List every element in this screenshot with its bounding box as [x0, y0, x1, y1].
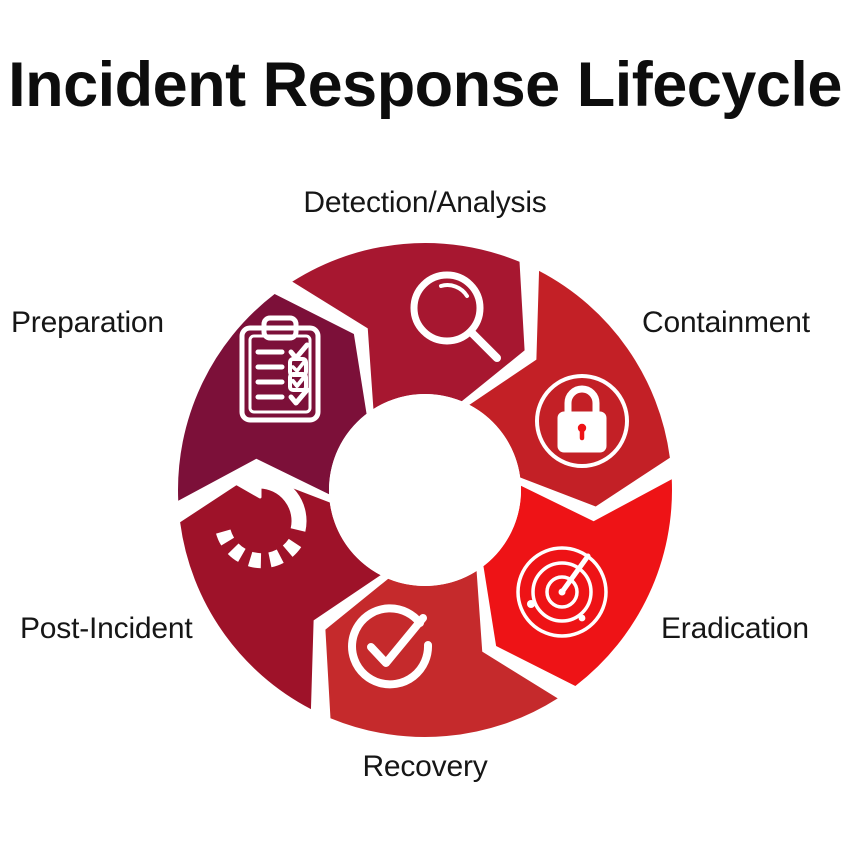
stage-label-containment[interactable]: Containment: [642, 306, 810, 339]
wheel-hub: [329, 394, 521, 586]
stage-label-detection-analysis[interactable]: Detection/Analysis: [0, 186, 850, 219]
stage-label-post-incident[interactable]: Post-Incident: [20, 612, 193, 645]
stage-label-preparation[interactable]: Preparation: [11, 306, 164, 339]
infographic-root: Incident Response Lifecycle Detection/An…: [0, 0, 850, 850]
lifecycle-wheel: [0, 0, 850, 850]
stage-label-recovery[interactable]: Recovery: [0, 750, 850, 783]
lifecycle-wheel-svg: [0, 0, 850, 850]
stage-label-eradication[interactable]: Eradication: [661, 612, 809, 645]
